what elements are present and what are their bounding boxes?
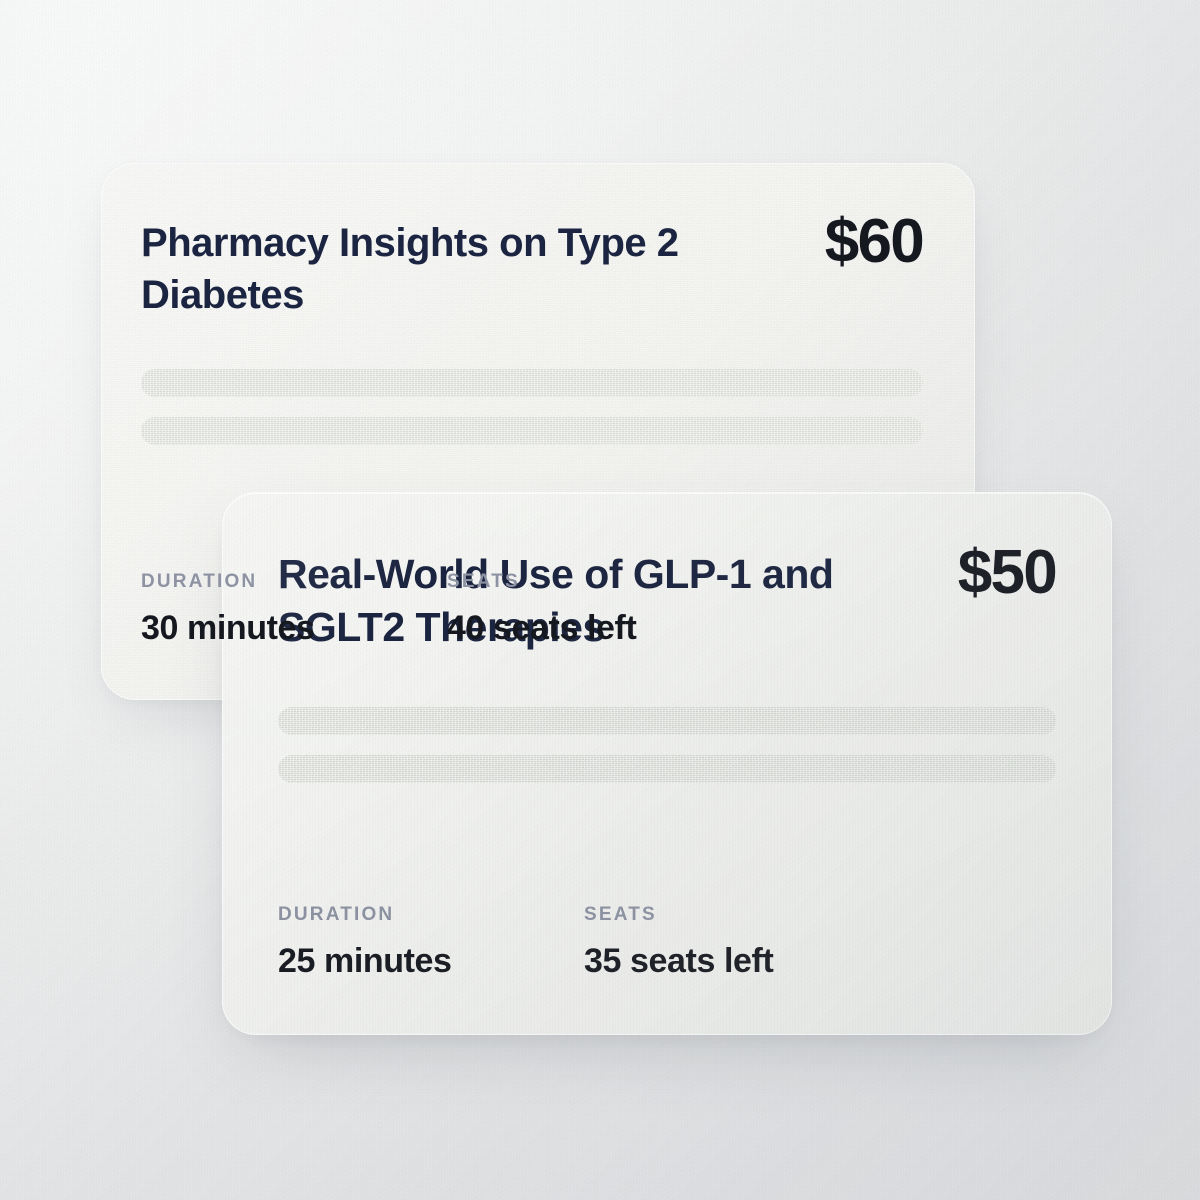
meta-duration: DURATION 30 minutes (141, 571, 447, 648)
card-stack-stage: Pharmacy Insights on Type 2 Diabetes $60… (0, 0, 1200, 1200)
meta-seats: SEATS 35 seats left (584, 904, 773, 981)
skeleton-placeholder-group (141, 369, 923, 445)
meta-label-duration: DURATION (141, 571, 447, 593)
meta-duration: DURATION 25 minutes (278, 904, 584, 981)
card-content: Pharmacy Insights on Type 2 Diabetes $60… (101, 163, 975, 700)
skeleton-bar (278, 755, 1056, 783)
meta-label-seats: SEATS (447, 571, 636, 593)
skeleton-placeholder-group (278, 707, 1056, 783)
meta-seats: SEATS 40 seats left (447, 571, 636, 648)
card-meta-row: DURATION 30 minutes SEATS 40 seats left (141, 571, 923, 648)
meta-value-duration: 25 minutes (278, 942, 584, 981)
course-card-back[interactable]: Pharmacy Insights on Type 2 Diabetes $60… (101, 163, 975, 700)
card-price: $60 (825, 211, 923, 273)
card-title: Pharmacy Insights on Type 2 Diabetes (141, 217, 681, 321)
meta-value-duration: 30 minutes (141, 609, 447, 648)
meta-label-seats: SEATS (584, 904, 773, 926)
meta-value-seats: 35 seats left (584, 942, 773, 981)
skeleton-bar (141, 417, 923, 445)
card-meta-row: DURATION 25 minutes SEATS 35 seats left (278, 904, 1056, 981)
meta-value-seats: 40 seats left (447, 609, 636, 648)
skeleton-bar (141, 369, 923, 397)
card-header: Pharmacy Insights on Type 2 Diabetes $60 (141, 217, 923, 321)
skeleton-bar (278, 707, 1056, 735)
meta-label-duration: DURATION (278, 904, 584, 926)
